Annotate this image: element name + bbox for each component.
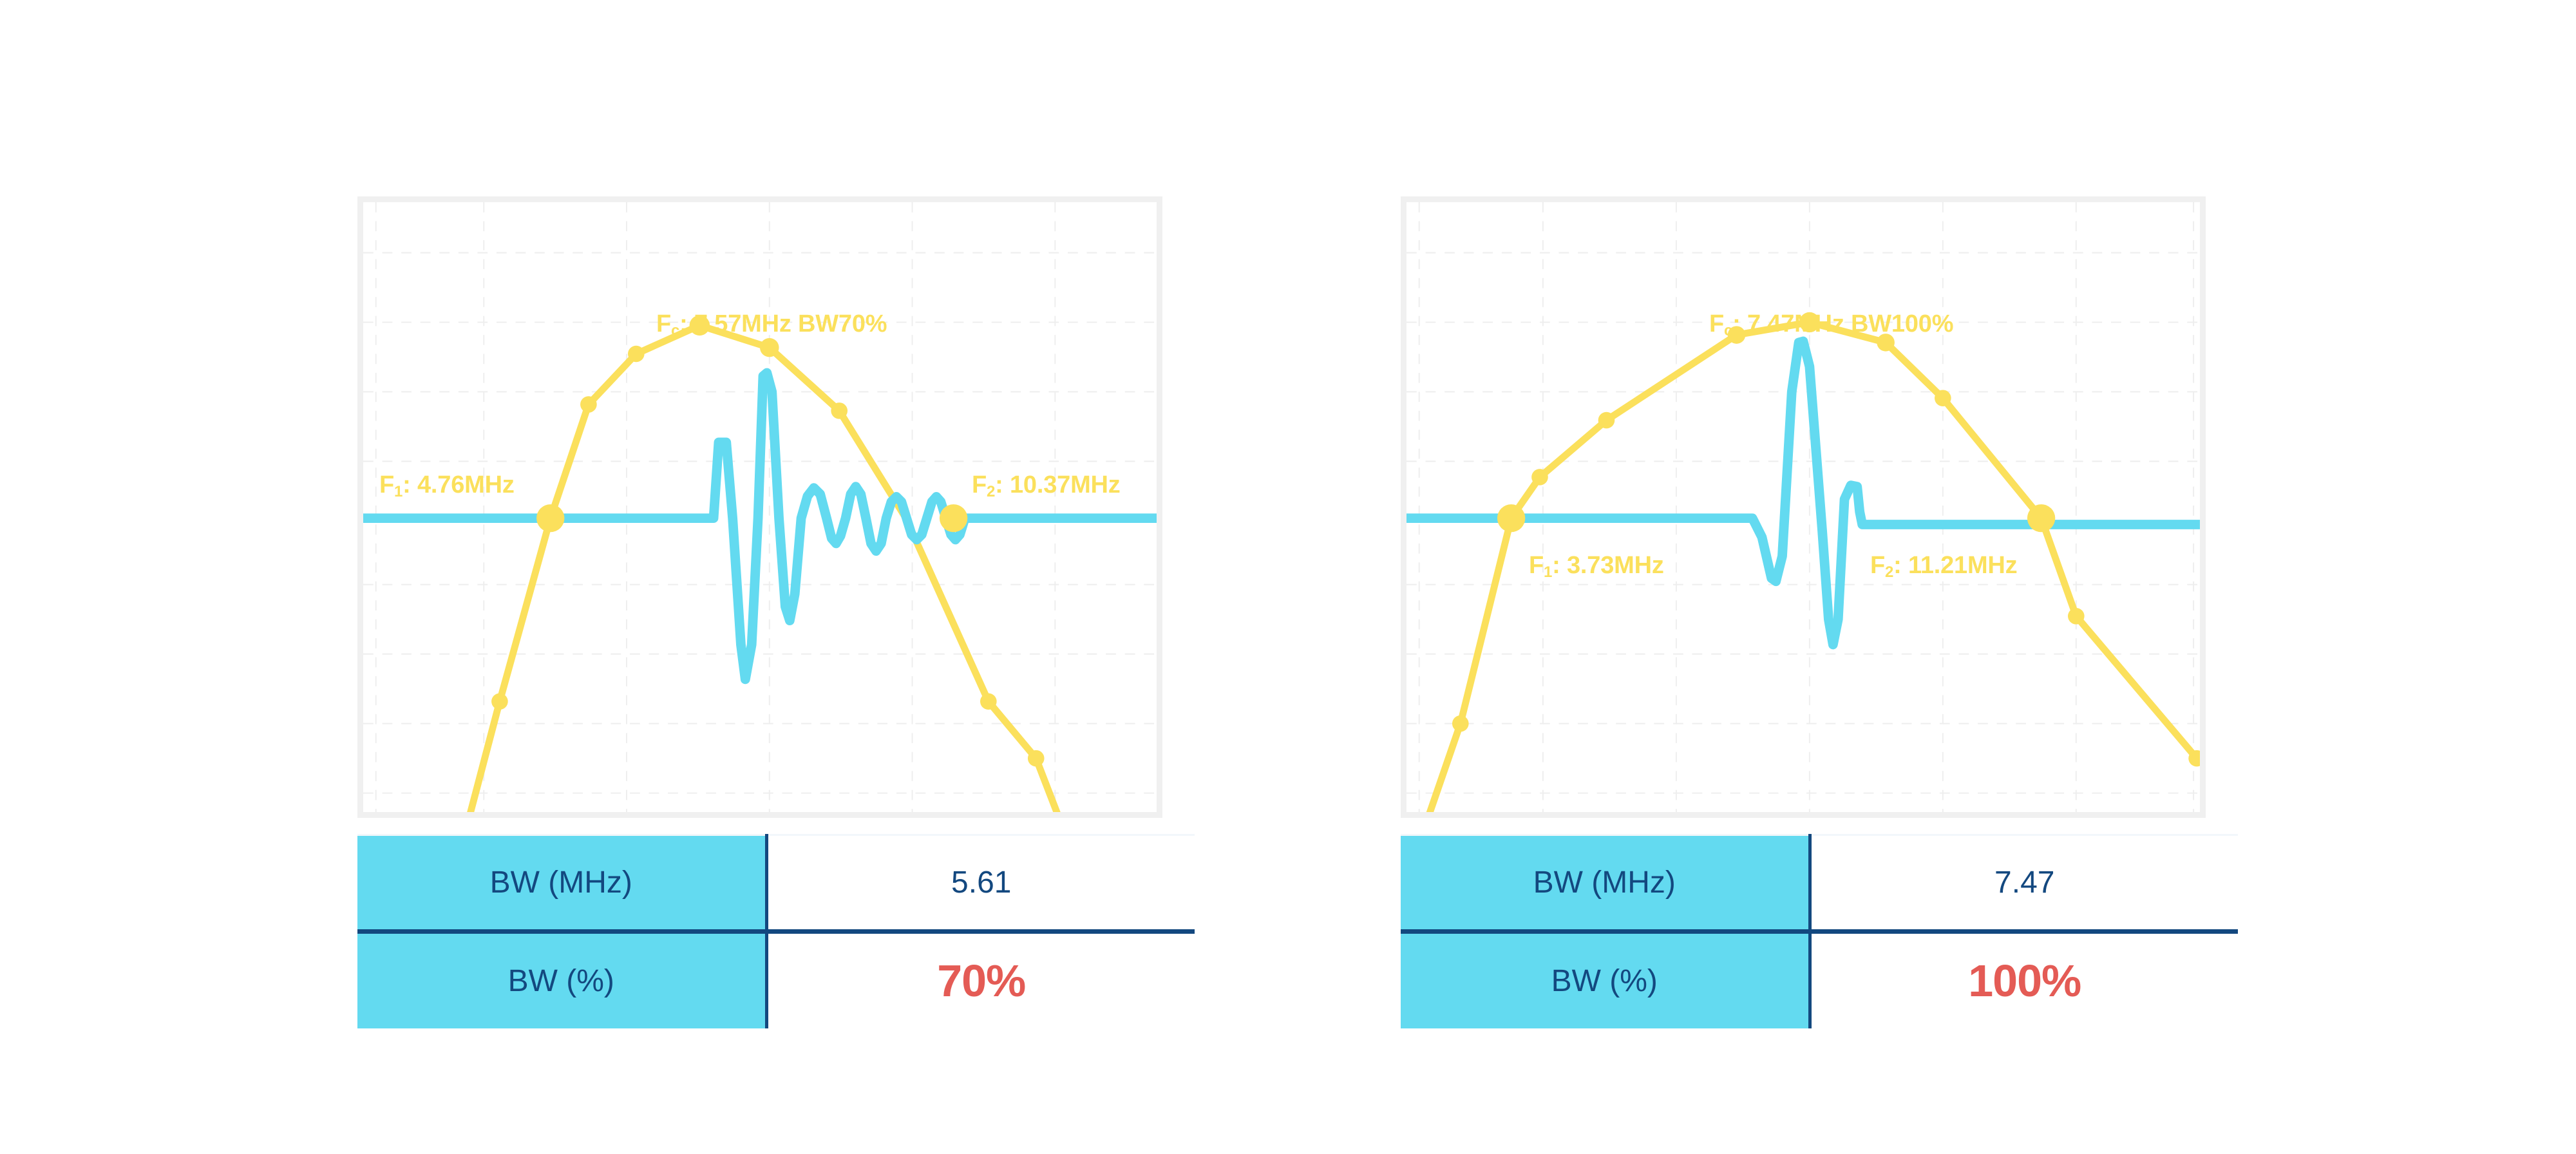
cutoff-marker-f1: [536, 504, 564, 532]
upper-cutoff-text: : 11.21MHz: [1893, 552, 2017, 579]
bw-mhz-value: 5.61: [766, 835, 1195, 932]
center-frequency-prefix: F: [656, 310, 671, 337]
cutoff-marker-f2: [2027, 504, 2055, 532]
spectrum-plot-left: [363, 202, 1157, 812]
lower-cutoff-prefix: F: [379, 471, 394, 498]
table-row: BW (MHz) 7.47: [1401, 835, 2238, 932]
panel-left: Fc: 7.57MHz BW70% F1: 4.76MHz F2: 10.37M…: [357, 196, 1162, 818]
grid-lines: [1406, 202, 2200, 812]
bw-mhz-header: BW (MHz): [357, 835, 766, 932]
time-domain-pulse-line: [363, 373, 1157, 679]
lower-cutoff-text: : 3.73MHz: [1552, 552, 1663, 579]
lower-cutoff-subscript: 1: [1544, 563, 1552, 581]
center-frequency-prefix: F: [1709, 310, 1724, 337]
bw-mhz-header: BW (MHz): [1401, 835, 1810, 932]
bw-pct-value: 100%: [1810, 932, 2238, 1028]
table-row: BW (%) 100%: [1401, 932, 2238, 1028]
cutoff-marker-f1: [1497, 504, 1525, 532]
figure-canvas: Fc: 7.57MHz BW70% F1: 4.76MHz F2: 10.37M…: [0, 0, 2576, 1154]
upper-cutoff-label: F2: 11.21MHz: [1870, 553, 2017, 580]
lower-cutoff-subscript: 1: [394, 483, 402, 500]
upper-cutoff-subscript: 2: [987, 483, 995, 500]
plot-frame-left: Fc: 7.57MHz BW70% F1: 4.76MHz F2: 10.37M…: [357, 196, 1162, 818]
lower-cutoff-label: F1: 4.76MHz: [379, 473, 515, 500]
upper-cutoff-prefix: F: [1870, 552, 1885, 579]
upper-cutoff-label: F2: 10.37MHz: [972, 473, 1121, 500]
bw-pct-header: BW (%): [1401, 932, 1810, 1028]
center-frequency-subscript: c: [1724, 322, 1732, 339]
cutoff-marker-f2: [940, 504, 967, 532]
bandwidth-table-right: BW (MHz) 7.47 BW (%) 100%: [1401, 834, 2238, 1028]
upper-cutoff-text: : 10.37MHz: [995, 471, 1120, 498]
panel-right: Fc: 7.47MHz BW100% F1: 3.73MHz F2: 11.21…: [1401, 196, 2206, 818]
lower-cutoff-label: F1: 3.73MHz: [1529, 553, 1664, 580]
table-row: BW (MHz) 5.61: [357, 835, 1195, 932]
bw-mhz-value: 7.47: [1810, 835, 2238, 932]
bw-pct-header: BW (%): [357, 932, 766, 1028]
bw-pct-value: 70%: [766, 932, 1195, 1028]
bandwidth-table-left: BW (MHz) 5.61 BW (%) 70%: [357, 834, 1195, 1028]
lower-cutoff-prefix: F: [1529, 552, 1544, 579]
center-frequency-subscript: c: [671, 322, 679, 339]
center-frequency-text: : 7.47MHz BW100%: [1732, 310, 1953, 337]
upper-cutoff-subscript: 2: [1885, 563, 1893, 581]
center-frequency-label: Fc: 7.47MHz BW100%: [1709, 312, 1953, 339]
lower-cutoff-text: : 4.76MHz: [402, 471, 514, 498]
upper-cutoff-prefix: F: [972, 471, 987, 498]
table-row: BW (%) 70%: [357, 932, 1195, 1028]
center-frequency-label: Fc: 7.57MHz BW70%: [656, 312, 887, 339]
center-frequency-text: : 7.57MHz BW70%: [679, 310, 887, 337]
plot-frame-right: Fc: 7.47MHz BW100% F1: 3.73MHz F2: 11.21…: [1401, 196, 2206, 818]
spectrum-plot-right: [1406, 202, 2200, 812]
